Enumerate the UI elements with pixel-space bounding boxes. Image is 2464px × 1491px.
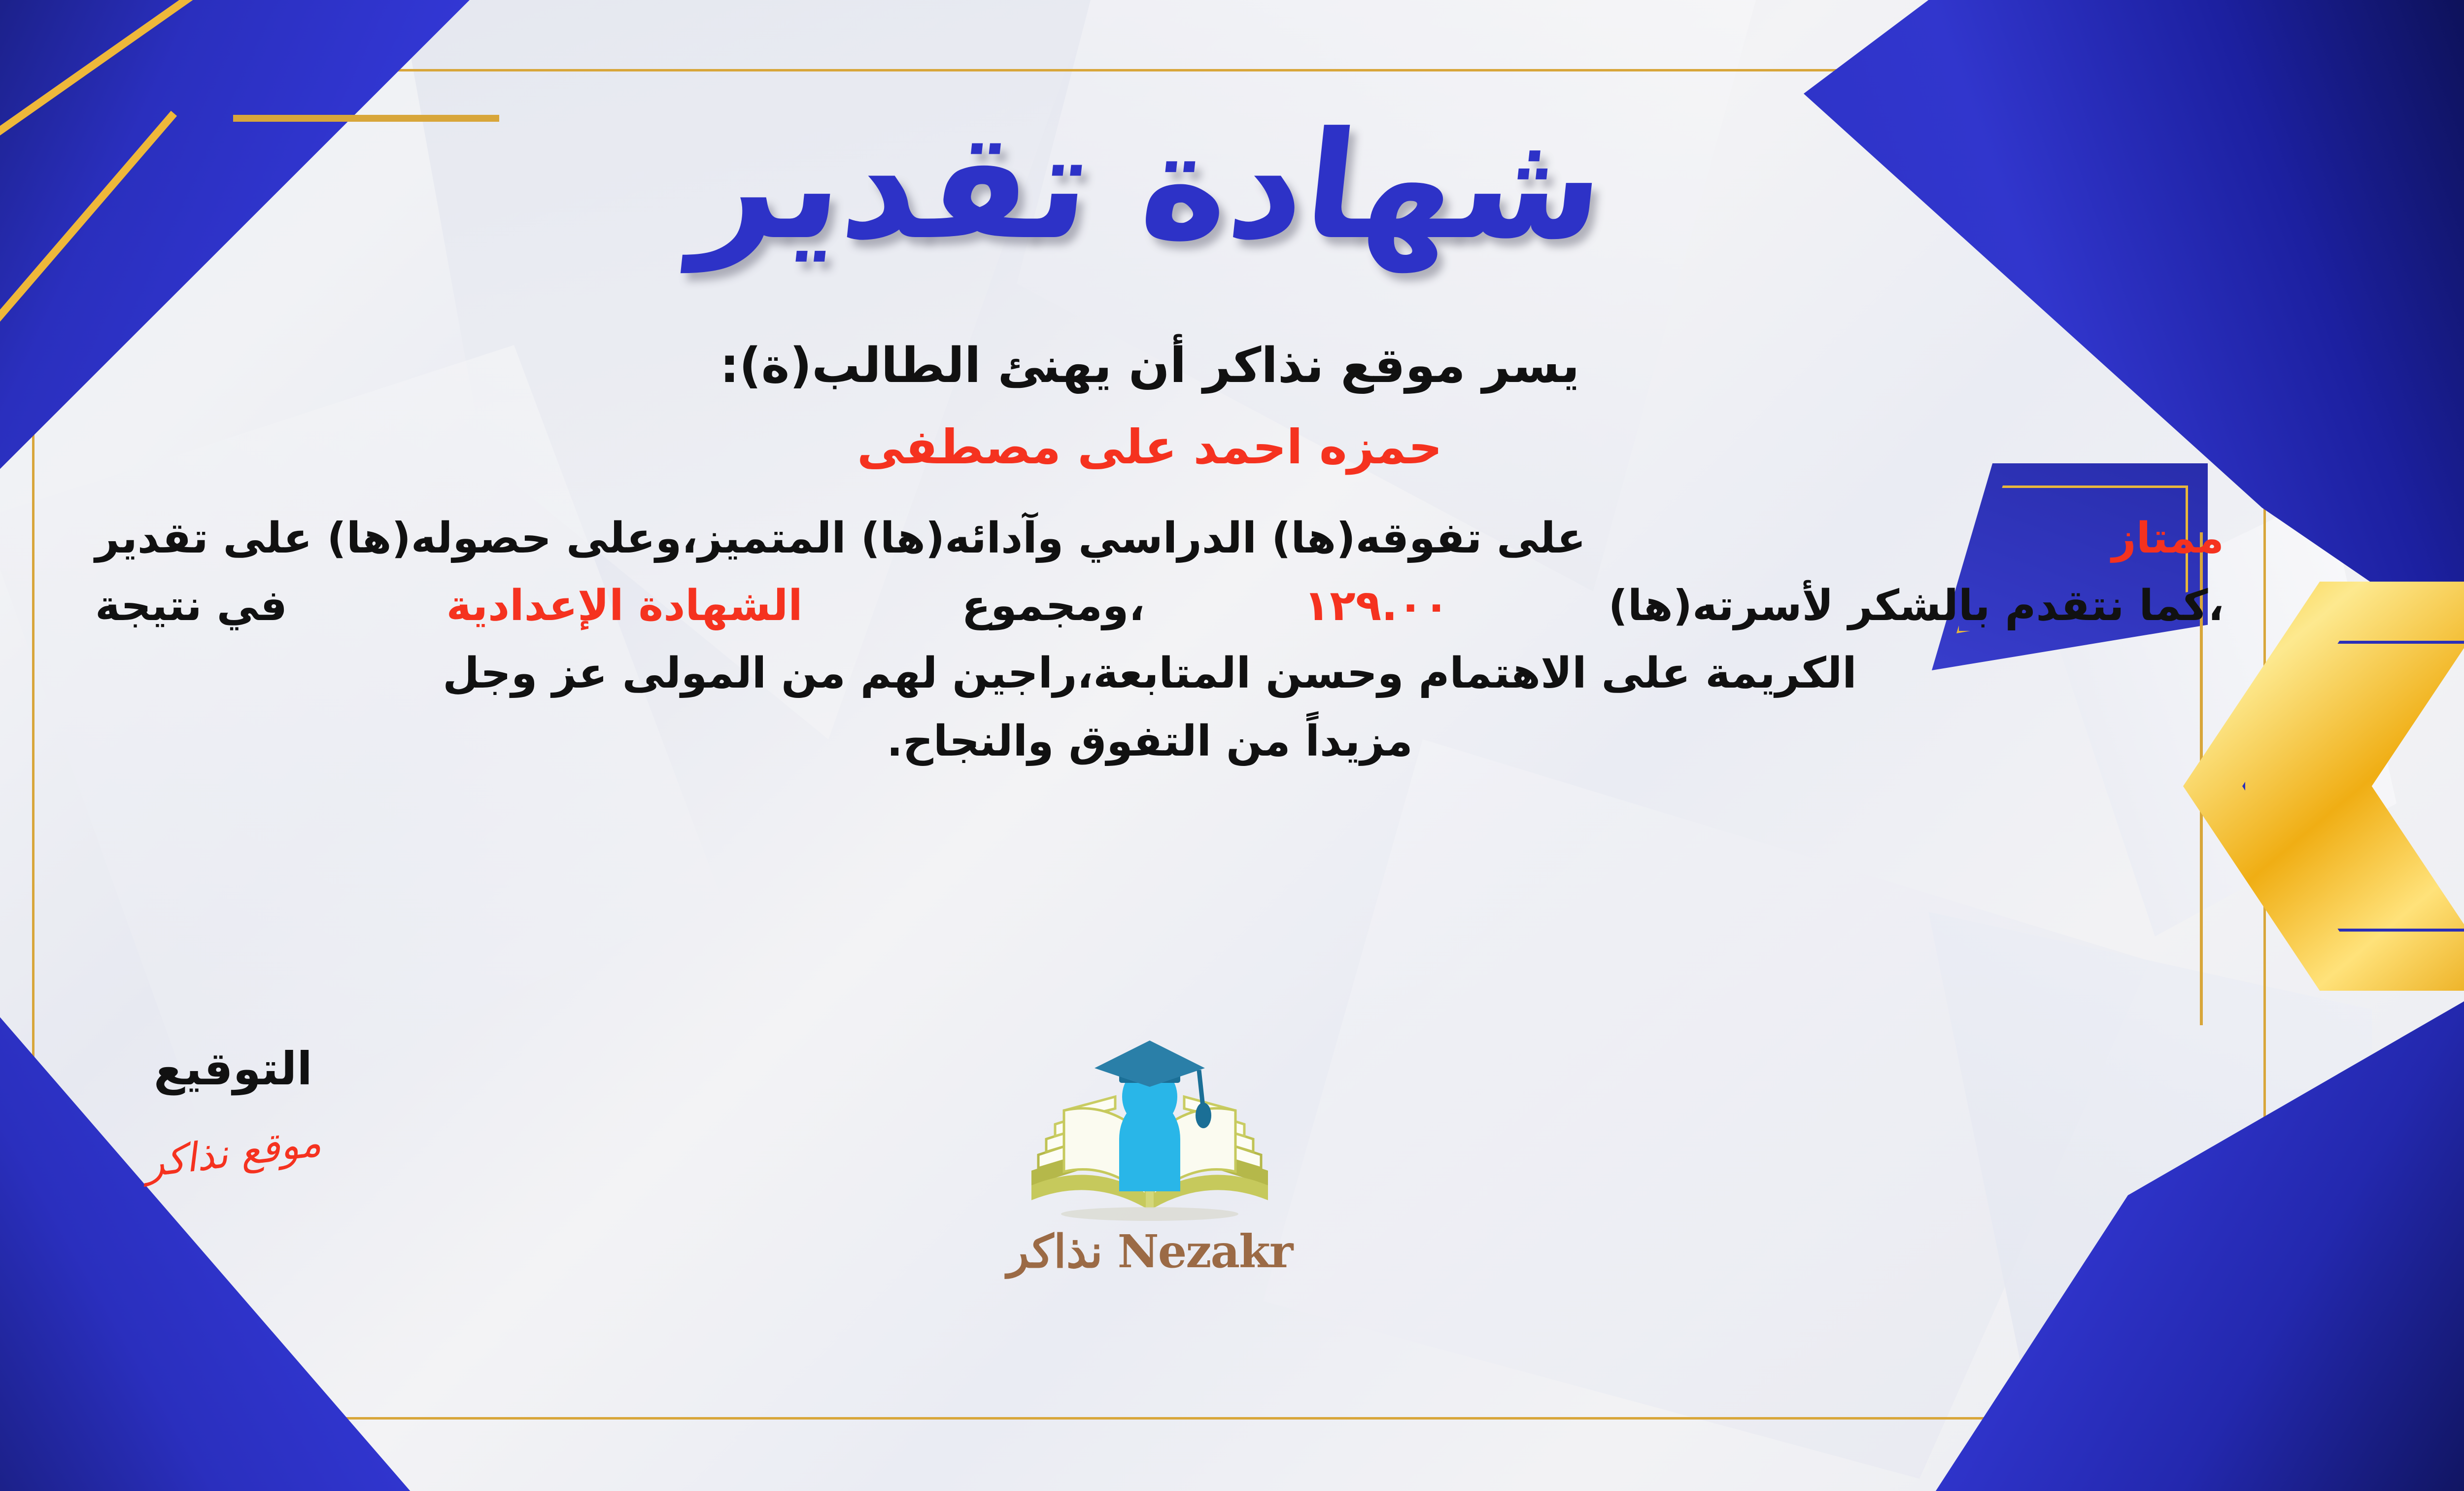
exam-name-value: الشهادة الإعدادية <box>446 578 803 634</box>
body-line-1: ممتاز على تفوقه(ها) الدراسي وآدائه(ها) ا… <box>66 510 2234 567</box>
body-line-4: مزيداً من التفوق والنجاح. <box>66 713 2234 770</box>
signature-mark: موقع نذاكر <box>142 1119 324 1186</box>
certificate-content: شهادة تقدير يسر موقع نذاكر أن يهنئ الطال… <box>41 79 2259 1410</box>
body-line-2-suffix: ،كما نتقدم بالشكر لأسرته(ها) <box>1608 578 2224 634</box>
student-name: حمزه احمد على مصطفى <box>857 419 1442 475</box>
graduate-book-logo-icon <box>1017 1038 1283 1235</box>
certificate-canvas: شهادة تقدير يسر موقع نذاكر أن يهنئ الطال… <box>0 0 2464 1491</box>
body-line-1-text: على تفوقه(ها) الدراسي وآدائه(ها) المتميز… <box>95 510 1586 567</box>
signature-label: التوقيع <box>75 1042 391 1095</box>
intro-text: يسر موقع نذاكر أن يهنئ الطالب(ة): <box>720 338 1580 394</box>
brand-wordmark: Nezakr نذاكر <box>962 1225 1337 1278</box>
page-title: شهادة تقدير <box>687 108 1611 264</box>
body-line-3: الكريمة على الاهتمام وحسن المتابعة،راجين… <box>66 645 2234 702</box>
body-line-2: ،كما نتقدم بالشكر لأسرته(ها) ١٢٩.٠٠ ،ومج… <box>66 578 2234 634</box>
certificate-body: ممتاز على تفوقه(ها) الدراسي وآدائه(ها) ا… <box>66 510 2234 770</box>
signature-block: التوقيع موقع نذاكر <box>75 1042 391 1176</box>
grade-value: ممتاز <box>2112 510 2224 567</box>
body-line-2-mid: ،ومجموع <box>961 578 1145 634</box>
total-score-value: ١٢٩.٠٠ <box>1304 578 1449 634</box>
certificate-footer: التوقيع موقع نذاكر <box>41 1042 2259 1318</box>
body-line-2-prefix: في نتيجة <box>95 578 287 634</box>
brand-logo-block: Nezakr نذاكر <box>962 1038 1337 1278</box>
